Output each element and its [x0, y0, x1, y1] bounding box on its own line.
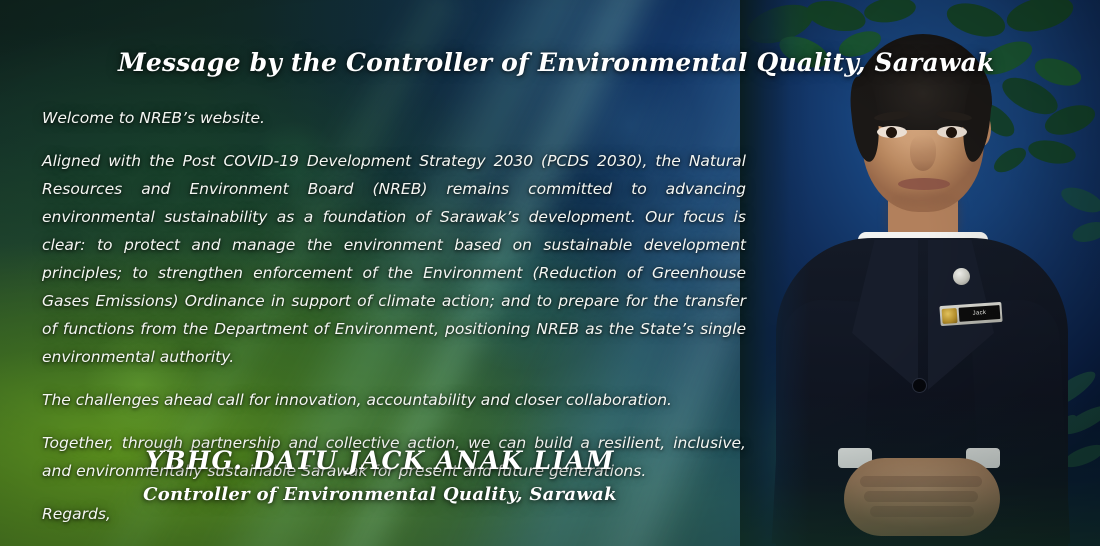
message-paragraph-2: The challenges ahead call for innovation…	[42, 386, 746, 414]
page-title: Message by the Controller of Environment…	[118, 48, 718, 77]
message-paragraph-1: Aligned with the Post COVID-19 Developme…	[42, 147, 746, 371]
signature-role: Controller of Environmental Quality, Sar…	[0, 484, 760, 505]
message-greeting: Welcome to NREB’s website.	[42, 104, 746, 132]
signature-name: YBHG. DATU JACK ANAK LIAM	[0, 446, 760, 475]
message-banner: Jack	[0, 0, 1100, 546]
message-content: Message by the Controller of Environment…	[0, 0, 760, 546]
message-body: Welcome to NREB’s website. Aligned with …	[42, 104, 746, 543]
